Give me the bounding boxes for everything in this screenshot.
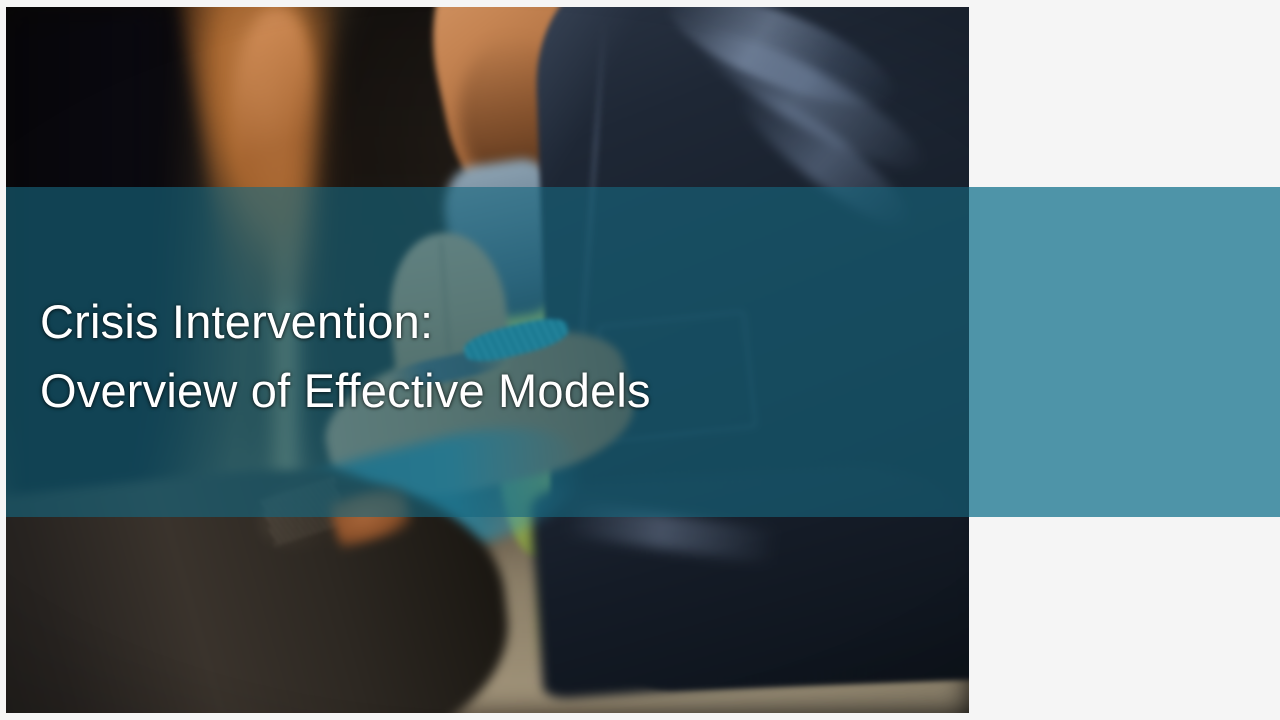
slide-title: Crisis Intervention: Overview of Effecti… — [40, 287, 920, 425]
title-line-2: Overview of Effective Models — [40, 356, 920, 425]
title-line-1: Crisis Intervention: — [40, 287, 920, 356]
title-slide: Crisis Intervention: Overview of Effecti… — [0, 0, 1280, 720]
teal-banner-right — [969, 187, 1280, 517]
